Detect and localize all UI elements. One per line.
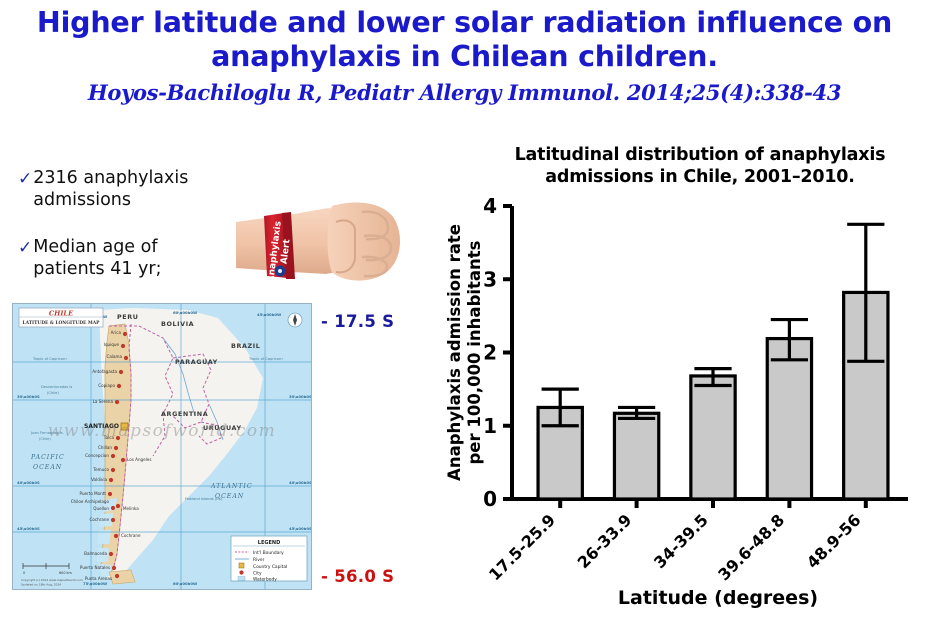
svg-text:Waterbody: Waterbody	[253, 577, 277, 583]
svg-text:PERU: PERU	[117, 313, 139, 321]
svg-text:40\u00b0S: 40\u00b0S	[17, 480, 40, 485]
bar	[614, 413, 658, 499]
svg-text:per 100,000 inhabitants: per 100,000 inhabitants	[465, 240, 484, 464]
x-tick-label: 17.5-25.9	[485, 510, 559, 584]
list-item-label: Median age of patients 41 yr;	[33, 237, 233, 280]
svg-text:BRAZIL: BRAZIL	[231, 342, 260, 350]
checkmark-icon: ✓	[18, 168, 32, 189]
checkmark-icon: ✓	[18, 237, 32, 258]
svg-text:Temuco: Temuco	[92, 467, 109, 472]
wristband-photo: Anaphylaxis Alert	[236, 178, 408, 300]
svg-text:ARGENTINA: ARGENTINA	[161, 410, 208, 418]
x-tick-label: 26-33.9	[574, 510, 636, 572]
svg-text:La Serena: La Serena	[93, 399, 114, 404]
svg-text:Melinka: Melinka	[123, 506, 139, 511]
y-tick-label: 2	[483, 341, 497, 365]
y-tick-label: 1	[483, 414, 497, 438]
svg-text:LATITUDE & LONGITUDE MAP: LATITUDE & LONGITUDE MAP	[23, 321, 101, 326]
svg-text:OCEAN: OCEAN	[33, 464, 62, 471]
svg-text:45\u00b0W: 45\u00b0W	[257, 312, 282, 317]
svg-text:Copiapo: Copiapo	[98, 383, 115, 388]
list-item-label: 2316 anaphylaxis admissions	[33, 168, 233, 211]
svg-text:Iquique: Iquique	[104, 342, 120, 347]
svg-text:Los Angeles: Los Angeles	[127, 457, 151, 462]
citation-text: Hoyos-Bachiloglu R, Pediatr Allergy Immu…	[0, 78, 929, 108]
latitude-marker-north: - 17.5 S	[321, 312, 394, 331]
svg-text:Falkland Islands (UK): Falkland Islands (UK)	[185, 497, 223, 501]
svg-text:Updated on 18th Aug, 2014: Updated on 18th Aug, 2014	[21, 583, 61, 587]
list-item: ✓ 2316 anaphylaxis admissions	[18, 168, 233, 211]
svg-text:River: River	[253, 557, 265, 563]
svg-text:LEGEND: LEGEND	[258, 540, 280, 546]
svg-text:40\u00b0S: 40\u00b0S	[289, 480, 311, 485]
svg-text:BOLIVIA: BOLIVIA	[161, 320, 194, 328]
svg-text:Chiloe Archipelago: Chiloe Archipelago	[71, 499, 110, 504]
svg-text:30\u00b0S: 30\u00b0S	[289, 394, 311, 399]
svg-text:75\u00b0W: 75\u00b0W	[83, 581, 108, 586]
chile-latitude-longitude-map: Arica Iquique Calama Antofagasta Copiapo…	[12, 303, 312, 590]
svg-text:Arica: Arica	[111, 330, 122, 335]
y-tick-label: 3	[483, 267, 497, 291]
svg-text:0: 0	[23, 571, 25, 575]
svg-text:Int'l Boundary: Int'l Boundary	[253, 550, 284, 556]
svg-text:PACIFIC: PACIFIC	[30, 454, 65, 461]
svg-text:City: City	[253, 571, 262, 577]
svg-text:www.mapsofworld.com: www.mapsofworld.com	[48, 421, 276, 441]
svg-text:60\u00b0W: 60\u00b0W	[173, 310, 198, 315]
y-axis-label: Anaphylaxis admission rateper 100,000 in…	[445, 224, 484, 481]
svg-text:Antofagasta: Antofagasta	[92, 369, 117, 374]
svg-text:600 km: 600 km	[59, 571, 73, 575]
slide-root: Higher latitude and lower solar radiatio…	[0, 0, 929, 629]
svg-text:Concepcion: Concepcion	[85, 453, 109, 458]
svg-text:Puerto Natales: Puerto Natales	[80, 565, 110, 570]
svg-text:Tropic of Capricorn: Tropic of Capricorn	[248, 357, 283, 361]
svg-text:Tropic of Capricorn: Tropic of Capricorn	[32, 357, 67, 361]
svg-text:Cochrane: Cochrane	[89, 517, 109, 522]
page-title-line-2: anaphylaxis in Chilean children.	[0, 40, 929, 74]
bullet-list: ✓ 2316 anaphylaxis admissions ✓ Median a…	[18, 168, 233, 306]
svg-text:Quellon: Quellon	[93, 506, 109, 511]
svg-text:45\u00b0S: 45\u00b0S	[17, 526, 40, 531]
svg-text:Puerto Montt: Puerto Montt	[80, 491, 107, 496]
svg-text:45\u00b0S: 45\u00b0S	[289, 526, 311, 531]
latitude-marker-south: - 56.0 S	[321, 567, 394, 586]
bar-chart: Latitudinal distribution of anaphylaxis …	[440, 144, 920, 624]
svg-text:Valdivia: Valdivia	[91, 477, 107, 482]
svg-text:PARAGUAY: PARAGUAY	[175, 358, 218, 366]
page-title-line-1: Higher latitude and lower solar radiatio…	[0, 6, 929, 40]
svg-text:Cochrane: Cochrane	[121, 533, 141, 538]
svg-text:Anaphylaxis admission rate: Anaphylaxis admission rate	[445, 224, 464, 481]
list-item: ✓ Median age of patients 41 yr;	[18, 237, 233, 280]
svg-text:(Chile): (Chile)	[47, 391, 59, 395]
svg-text:ATLANTIC: ATLANTIC	[210, 483, 253, 490]
x-tick-label: 48.9-56	[803, 510, 865, 572]
svg-text:Country Capital: Country Capital	[253, 564, 287, 570]
svg-text:60\u00b0W: 60\u00b0W	[173, 581, 198, 586]
svg-text:30\u00b0S: 30\u00b0S	[17, 394, 40, 399]
bar	[767, 339, 811, 499]
svg-text:Copyright (c) 2014 www.mapsofw: Copyright (c) 2014 www.mapsofworld.com	[21, 578, 83, 582]
chart-plot-area: 01234Anaphylaxis admission rateper 100,0…	[440, 144, 920, 624]
title-block: Higher latitude and lower solar radiatio…	[0, 6, 929, 108]
svg-text:Balmaceda: Balmaceda	[84, 551, 107, 556]
x-tick-label: 34-39.5	[650, 510, 712, 572]
x-tick-label: 39.6-48.8	[714, 510, 788, 584]
svg-text:CHILE: CHILE	[49, 309, 74, 317]
y-tick-label: 0	[483, 487, 497, 511]
x-axis-label: Latitude (degrees)	[618, 587, 818, 609]
svg-text:Calama: Calama	[106, 354, 122, 359]
y-tick-label: 4	[483, 194, 497, 218]
bar	[691, 376, 735, 499]
svg-text:Desventuradas Is: Desventuradas Is	[41, 385, 72, 389]
svg-text:Chillan: Chillan	[98, 445, 112, 450]
